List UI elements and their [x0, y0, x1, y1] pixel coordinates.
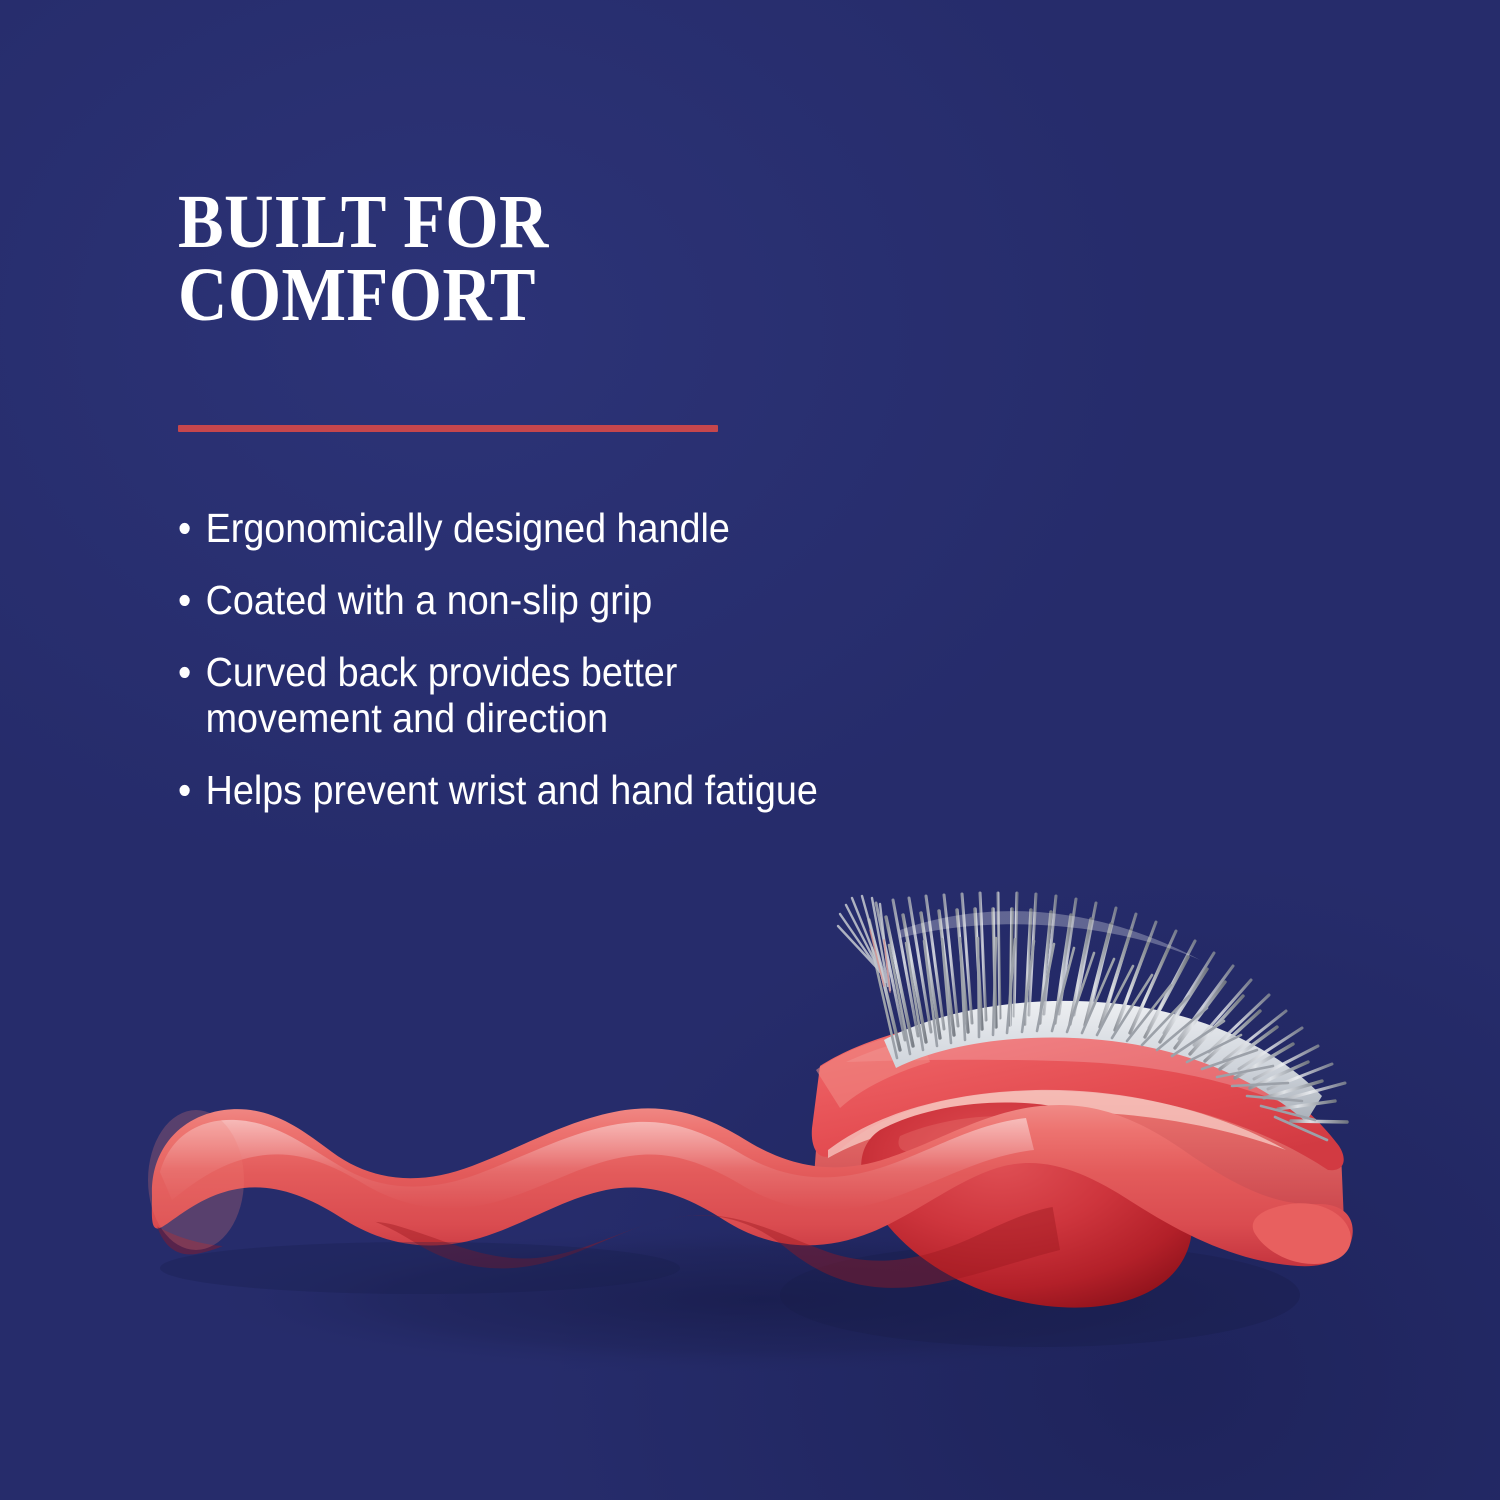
bullet-icon: •: [178, 506, 206, 552]
list-item-label: Ergonomically designed handle: [206, 506, 933, 552]
bullet-icon: •: [178, 650, 206, 696]
list-item-label: Curved back provides better movement and…: [206, 650, 933, 742]
bullet-icon: •: [178, 768, 206, 814]
handle-contact-shadow: [160, 1242, 680, 1294]
brush-grip-mass: [861, 1102, 1192, 1307]
brush-handle-highlight: [160, 1118, 1034, 1210]
brush-head-notch: [816, 1030, 930, 1108]
bullet-icon: •: [178, 578, 206, 624]
list-item: • Coated with a non-slip grip: [178, 578, 932, 624]
list-item: • Helps prevent wrist and hand fatigue: [178, 768, 932, 814]
page-title-line-1: BUILT FOR: [178, 186, 808, 259]
pin-bed: [884, 1001, 1322, 1122]
brush-head-plate: [812, 1015, 1344, 1170]
brush-grip-shade: [898, 1116, 1108, 1152]
list-item: • Curved back provides better movement a…: [178, 650, 932, 742]
page-title: BUILT FOR COMFORT: [178, 186, 808, 332]
list-item-label: Coated with a non-slip grip: [206, 578, 933, 624]
pin-glint: [900, 911, 1200, 960]
brush-head-highlight: [846, 1024, 1306, 1114]
page-title-line-2: COMFORT: [178, 259, 808, 332]
product-shadow: [190, 1222, 1330, 1378]
brush-head: [812, 1001, 1345, 1258]
brush-handle: [148, 1105, 1353, 1300]
brush-head-seam: [828, 1090, 1286, 1158]
feature-list: • Ergonomically designed handle • Coated…: [178, 506, 998, 840]
product-feature-card: BUILT FOR COMFORT • Ergonomically design…: [0, 0, 1500, 1500]
brush-handle-shade: [150, 1205, 1130, 1300]
brush-handle-tip: [1253, 1203, 1351, 1264]
brush-handle-end-cap: [148, 1110, 244, 1250]
divider: [178, 425, 718, 432]
brush-head-edge: [814, 1021, 1345, 1258]
list-item: • Ergonomically designed handle: [178, 506, 932, 552]
brush-pins: [838, 893, 1347, 1140]
list-item-label: Helps prevent wrist and hand fatigue: [206, 768, 933, 814]
brush-handle-body: [152, 1105, 1353, 1266]
product-shadow-core: [780, 1243, 1300, 1347]
